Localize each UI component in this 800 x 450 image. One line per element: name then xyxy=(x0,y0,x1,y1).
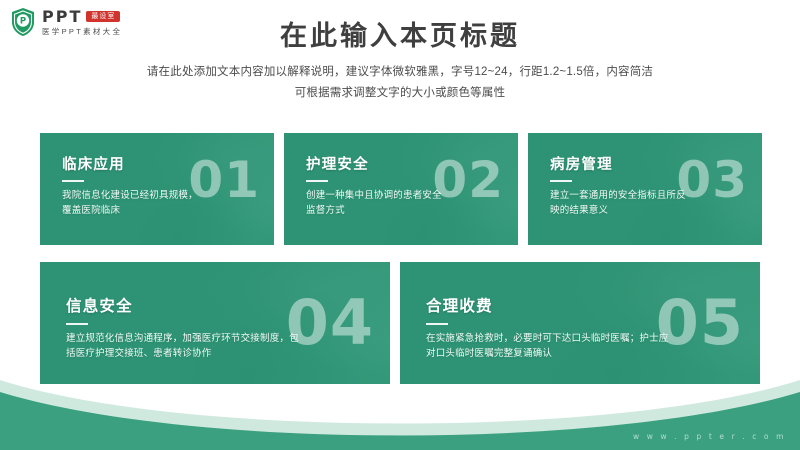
page-subtitle: 请在此处添加文本内容加以解释说明，建议字体微软雅黑，字号12~24，行距1.2~… xyxy=(80,62,720,105)
card-number: 01 xyxy=(188,155,260,205)
subtitle-line-1: 请在此处添加文本内容加以解释说明，建议字体微软雅黑，字号12~24，行距1.2~… xyxy=(80,62,720,83)
card-divider xyxy=(62,180,84,182)
content-card-02[interactable]: 护理安全 创建一种集中且协调的患者安全监督方式 02 xyxy=(284,133,518,245)
card-heading: 病房管理 xyxy=(550,153,613,174)
page-title: 在此输入本页标题 xyxy=(0,14,800,53)
card-body: 建立规范化信息沟通程序，加强医疗环节交接制度，包括医疗护理交接班、患者转诊协作 xyxy=(66,332,306,361)
content-card-05[interactable]: 合理收费 在实施紧急抢救时，必要时可下达口头临时医嘱；护士应对口头临时医嘱完整复… xyxy=(400,262,760,384)
card-number: 02 xyxy=(432,155,504,205)
card-body: 创建一种集中且协调的患者安全监督方式 xyxy=(306,189,444,218)
card-divider xyxy=(306,180,328,182)
footer-url: w w w . p p t e r . c o m xyxy=(633,432,786,441)
card-body: 我院信息化建设已经初具规模，覆盖医院临床 xyxy=(62,189,200,218)
card-number: 05 xyxy=(656,292,744,354)
card-heading: 护理安全 xyxy=(306,153,369,174)
subtitle-line-2: 可根据需求调整文字的大小或颜色等属性 xyxy=(80,83,720,104)
card-body: 在实施紧急抢救时，必要时可下达口头临时医嘱；护士应对口头临时医嘱完整复诵确认 xyxy=(426,332,676,361)
content-card-03[interactable]: 病房管理 建立一套通用的安全指标且所反映的结果意义 03 xyxy=(528,133,762,245)
card-heading: 信息安全 xyxy=(66,294,133,316)
card-divider xyxy=(550,180,572,182)
card-divider xyxy=(66,323,88,325)
card-heading: 临床应用 xyxy=(62,153,125,174)
content-card-04[interactable]: 信息安全 建立规范化信息沟通程序，加强医疗环节交接制度，包括医疗护理交接班、患者… xyxy=(40,262,390,384)
card-number: 04 xyxy=(286,292,374,354)
card-divider xyxy=(426,323,448,325)
card-number: 03 xyxy=(676,155,748,205)
content-card-01[interactable]: 临床应用 我院信息化建设已经初具规模，覆盖医院临床 01 xyxy=(40,133,274,245)
card-heading: 合理收费 xyxy=(426,294,493,316)
slide-canvas: P PPT 最设室 医学PPT素材大全 在此输入本页标题 请在此处添加文本内容加… xyxy=(0,0,800,450)
card-body: 建立一套通用的安全指标且所反映的结果意义 xyxy=(550,189,688,218)
